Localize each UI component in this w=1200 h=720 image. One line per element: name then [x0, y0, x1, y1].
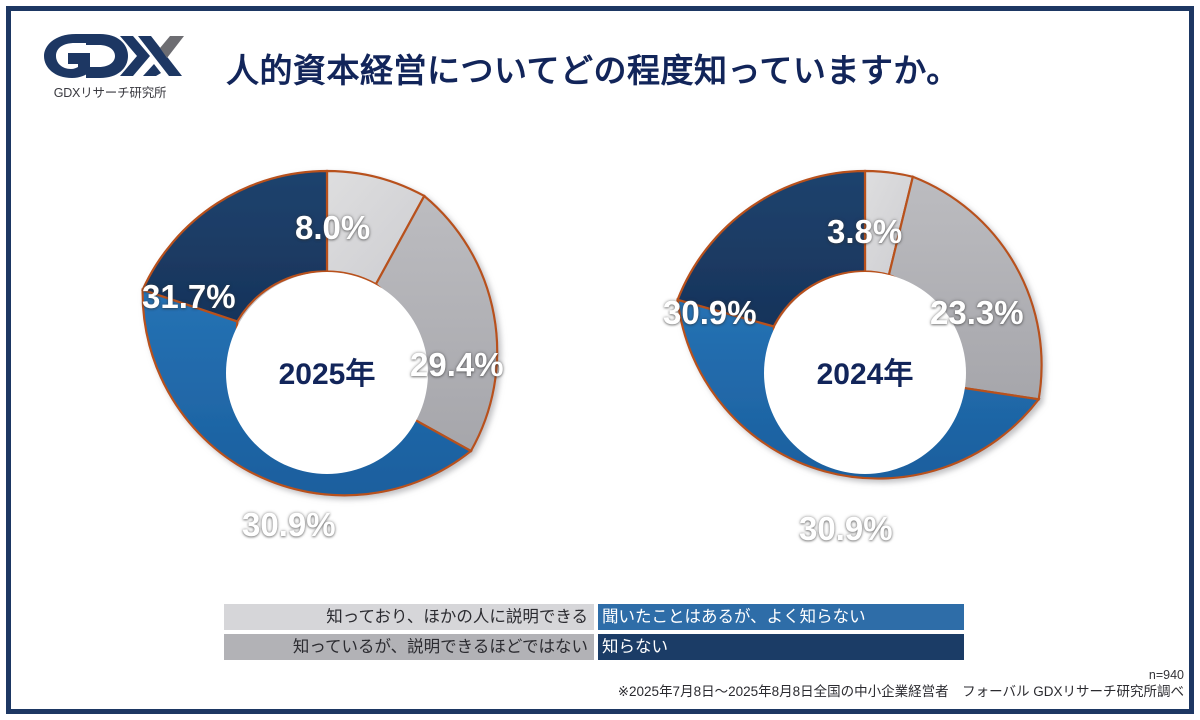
donut-chart-2025: 2025年 8.0% 29.4% 30.9% 31.7%: [117, 163, 537, 583]
page-title: 人的資本経営についてどの程度知っていますか。: [226, 44, 960, 92]
donut-2024-hole: [764, 272, 966, 474]
legend-item-2[interactable]: 知っているが、説明できるほどではない: [224, 634, 594, 660]
legend-item-0[interactable]: 知っており、ほかの人に説明できる: [224, 604, 594, 630]
survey-note: ※2025年7月8日〜2025年8月8日全国の中小企業経営者 フォーバル GDX…: [618, 683, 1184, 701]
sample-size-label: n=940: [618, 668, 1184, 683]
donut-2024-svg: [655, 163, 1075, 583]
gdx-logo-mark: [34, 26, 186, 84]
donut-2025-svg: [117, 163, 537, 583]
donut-chart-2024: 2024年 3.8% 23.3% 30.9% 30.9%: [655, 163, 1075, 583]
logo-caption: GDXリサーチ研究所: [34, 82, 186, 101]
legend-item-3[interactable]: 知らない: [598, 634, 964, 660]
chart-legend: 知っており、ほかの人に説明できる 聞いたことはあるが、よく知らない 知っているが…: [224, 604, 964, 660]
donut-2025-hole: [226, 272, 428, 474]
footer: n=940 ※2025年7月8日〜2025年8月8日全国の中小企業経営者 フォー…: [618, 668, 1184, 701]
gdx-logo: GDXリサーチ研究所: [34, 26, 186, 106]
chart-page: GDXリサーチ研究所 人的資本経営についてどの程度知っていますか。: [0, 0, 1200, 720]
header: GDXリサーチ研究所 人的資本経営についてどの程度知っていますか。: [0, 0, 1200, 120]
legend-item-1[interactable]: 聞いたことはあるが、よく知らない: [598, 604, 964, 630]
